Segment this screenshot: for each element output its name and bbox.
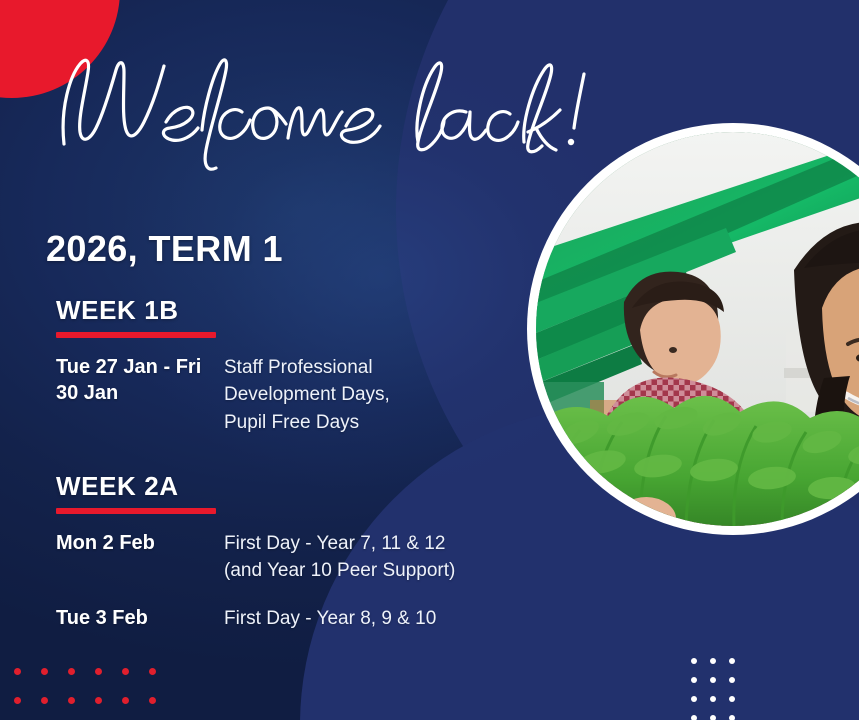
week-entries: Mon 2 Feb First Day - Year 7, 11 & 12 (a… [56, 530, 455, 633]
photo-image [536, 132, 859, 526]
dot [710, 658, 716, 664]
week-underline [56, 508, 216, 514]
dot [729, 696, 735, 702]
dot [14, 668, 21, 675]
dot [729, 715, 735, 720]
dot [41, 668, 48, 675]
dot [729, 677, 735, 683]
dot [691, 696, 697, 702]
welcome-back-poster: Welcome back! [0, 0, 859, 720]
week-underline [56, 332, 216, 338]
dot [710, 677, 716, 683]
week-label: WEEK 1B [56, 296, 390, 325]
red-dot-grid-bottom-left [14, 668, 176, 720]
schedule-row: Mon 2 Feb First Day - Year 7, 11 & 12 (a… [56, 530, 455, 585]
dot [691, 677, 697, 683]
week-block-2a: WEEK 2A Mon 2 Feb First Day - Year 7, 11… [56, 472, 455, 652]
dot [149, 668, 156, 675]
week-label: WEEK 2A [56, 472, 455, 501]
week-entries: Tue 27 Jan - Fri 30 Jan Staff Profession… [56, 354, 390, 437]
entry-date: Mon 2 Feb [56, 530, 224, 556]
dot [95, 668, 102, 675]
entry-description: First Day - Year 8, 9 & 10 [224, 605, 436, 633]
dot [41, 697, 48, 704]
dot [122, 697, 129, 704]
schedule-row: Tue 27 Jan - Fri 30 Jan Staff Profession… [56, 354, 390, 437]
dot [122, 668, 129, 675]
entry-description: First Day - Year 7, 11 & 12 (and Year 10… [224, 530, 455, 585]
dot [68, 668, 75, 675]
entry-description: Staff Professional Development Days, Pup… [224, 354, 390, 437]
dot [729, 658, 735, 664]
dot [149, 697, 156, 704]
dot [710, 696, 716, 702]
dot [710, 715, 716, 720]
week-block-1b: WEEK 1B Tue 27 Jan - Fri 30 Jan Staff Pr… [56, 296, 390, 450]
red-quarter-circle-top-left [0, 0, 120, 98]
schedule-row: Tue 3 Feb First Day - Year 8, 9 & 10 [56, 605, 455, 633]
page-title: 2026, TERM 1 [46, 228, 283, 270]
white-dot-grid-bottom-right [691, 658, 748, 720]
dot [95, 697, 102, 704]
entry-date: Tue 27 Jan - Fri 30 Jan [56, 354, 224, 407]
dot [691, 715, 697, 720]
dot [68, 697, 75, 704]
dot [14, 697, 21, 704]
dot [691, 658, 697, 664]
entry-date: Tue 3 Feb [56, 605, 224, 631]
